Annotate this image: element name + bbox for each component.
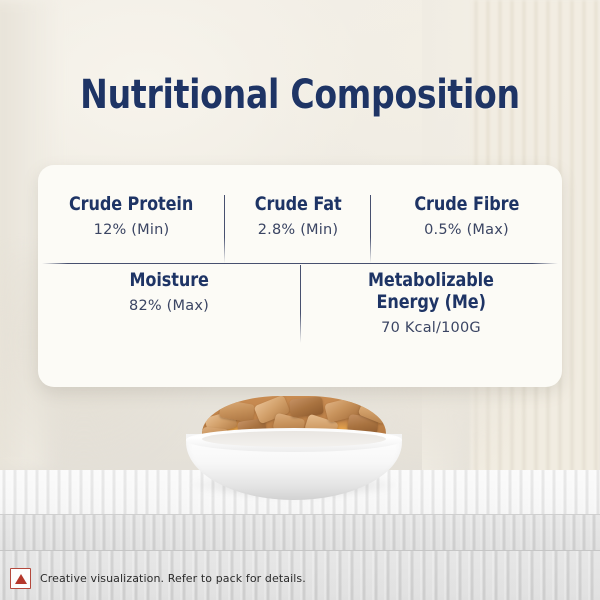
divider-vertical-3 bbox=[300, 265, 301, 343]
nutrient-label-metabolizable-energy-line1: Metabolizable bbox=[368, 269, 494, 291]
divider-vertical-1 bbox=[224, 195, 225, 263]
nutrient-label-moisture: Moisture bbox=[129, 269, 208, 291]
warning-triangle-glyph bbox=[15, 574, 27, 584]
nutrient-value-crude-protein: 12% (Min) bbox=[94, 222, 170, 238]
disclaimer-text: Creative visualization. Refer to pack fo… bbox=[40, 572, 306, 585]
nutrient-cell-moisture: Moisture 82% (Max) bbox=[38, 269, 300, 365]
nutrient-value-moisture: 82% (Max) bbox=[129, 298, 209, 314]
nutrient-value-crude-fibre: 0.5% (Max) bbox=[424, 222, 509, 238]
product-infographic: Nutritional Composition Crude Protein 12… bbox=[0, 0, 600, 600]
nutrient-cell-metabolizable-energy: Metabolizable Energy (Me) 70 Kcal/100G bbox=[300, 269, 562, 365]
nutrient-cell-crude-fat: Crude Fat 2.8% (Min) bbox=[225, 193, 371, 261]
counter-edge bbox=[0, 514, 600, 550]
nutrient-value-crude-fat: 2.8% (Min) bbox=[258, 222, 339, 238]
nutrient-value-metabolizable-energy: 70 Kcal/100G bbox=[381, 320, 481, 336]
nutrient-label-crude-protein: Crude Protein bbox=[69, 193, 193, 215]
nutrient-label-crude-fat: Crude Fat bbox=[255, 193, 342, 215]
nutrient-label-metabolizable-energy-line2: Energy (Me) bbox=[376, 291, 485, 313]
page-title: Nutritional Composition bbox=[24, 72, 576, 118]
nutrient-cell-crude-protein: Crude Protein 12% (Min) bbox=[38, 193, 225, 261]
divider-vertical-2 bbox=[370, 195, 371, 263]
bowl-rim-inner bbox=[202, 431, 386, 447]
disclaimer: Creative visualization. Refer to pack fo… bbox=[10, 568, 306, 589]
warning-triangle-icon bbox=[10, 568, 31, 589]
nutrient-label-crude-fibre: Crude Fibre bbox=[414, 193, 519, 215]
nutrient-cell-crude-fibre: Crude Fibre 0.5% (Max) bbox=[371, 193, 562, 261]
product-image bbox=[186, 398, 402, 503]
nutrition-card: Crude Protein 12% (Min) Crude Fat 2.8% (… bbox=[38, 165, 562, 387]
nutrition-row-1: Crude Protein 12% (Min) Crude Fat 2.8% (… bbox=[38, 193, 562, 261]
